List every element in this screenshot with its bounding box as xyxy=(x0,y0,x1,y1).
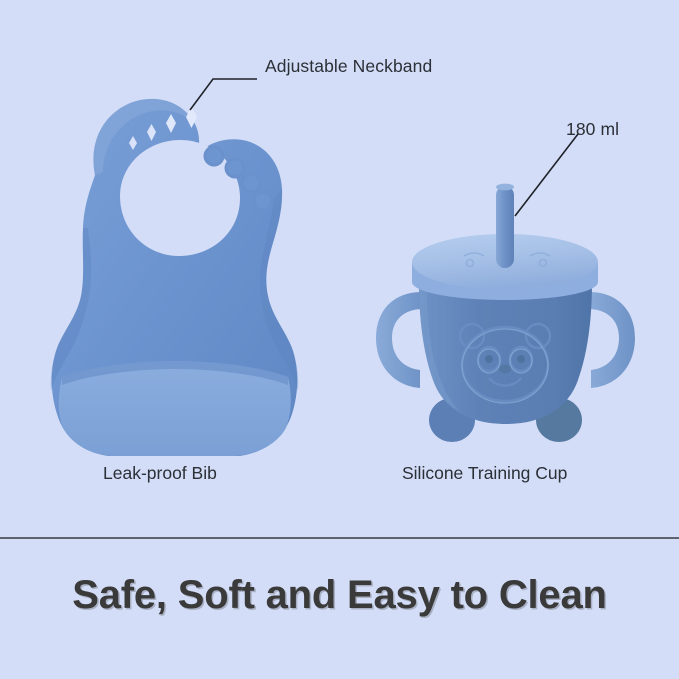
products-section: Adjustable Neckband 180 ml Leak-proof Bi… xyxy=(0,0,679,538)
callout-label-neckband: Adjustable Neckband xyxy=(265,56,432,77)
product-illustrations xyxy=(0,0,679,538)
cup-illustration xyxy=(376,184,635,442)
leader-volume xyxy=(515,134,578,216)
section-divider xyxy=(0,537,679,539)
cup-handle-right xyxy=(588,292,635,388)
cup-handle-left xyxy=(376,292,423,388)
headline-text: Safe, Soft and Easy to Clean xyxy=(0,573,679,618)
callout-label-volume: 180 ml xyxy=(566,119,619,140)
infographic-root: Adjustable Neckband 180 ml Leak-proof Bi… xyxy=(0,0,679,679)
bib-illustration xyxy=(51,99,299,456)
product-caption-bib: Leak-proof Bib xyxy=(103,463,217,484)
product-caption-cup: Silicone Training Cup xyxy=(402,463,567,484)
panda-nose xyxy=(499,365,511,374)
leader-neckband xyxy=(190,79,257,110)
cup-straw xyxy=(496,186,514,268)
